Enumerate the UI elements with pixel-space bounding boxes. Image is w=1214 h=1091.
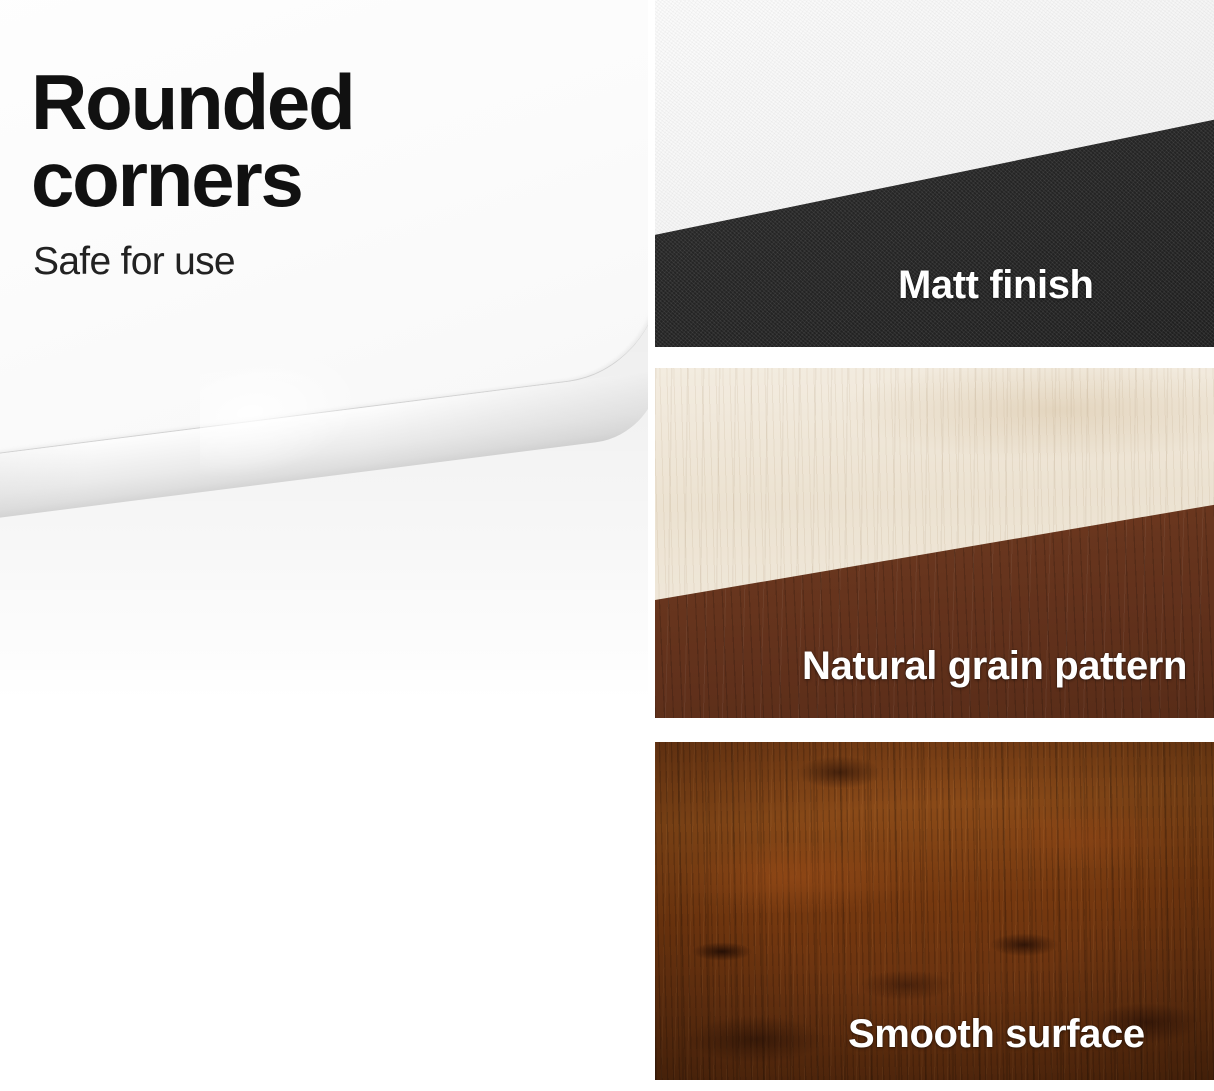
hero-subtitle: Safe for use [33, 242, 591, 281]
product-feature-collage: Rounded corners Safe for use Matt finish… [0, 0, 1214, 1091]
feature-panel-smooth-surface: Smooth surface [655, 742, 1214, 1080]
panel-label-smooth-surface: Smooth surface [848, 1014, 1145, 1054]
panel-label-matt-finish: Matt finish [898, 265, 1094, 305]
panel-label-natural-grain: Natural grain pattern [802, 646, 1187, 686]
hero-text-block: Rounded corners Safe for use [31, 64, 591, 281]
feature-panel-stack: Matt finish Natural grain pattern Smooth… [655, 0, 1214, 1091]
hero-title: Rounded corners [31, 64, 591, 218]
feature-panel-natural-grain: Natural grain pattern [655, 368, 1214, 718]
hero-panel-rounded-corners: Rounded corners Safe for use [0, 0, 648, 1091]
feature-panel-matt-finish: Matt finish [655, 0, 1214, 347]
